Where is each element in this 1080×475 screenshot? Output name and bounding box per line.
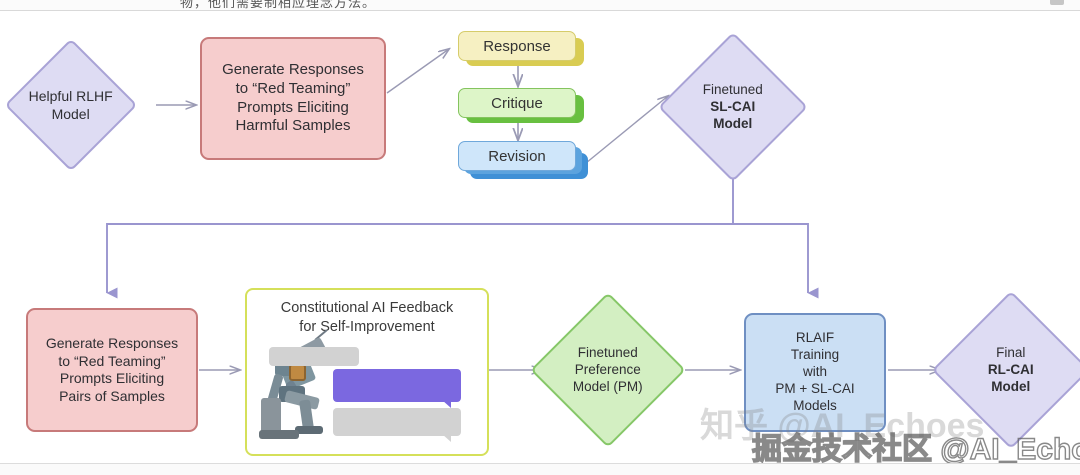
- cai-feedback-title: Constitutional AI Feedback for Self-Impr…: [247, 299, 487, 337]
- node-finetuned-sl-cai-model[interactable]: Finetuned SL-CAI Model: [658, 32, 808, 182]
- edge-genharmful-to-response: [387, 49, 449, 93]
- node-generate-harmful-samples[interactable]: Generate Responses to “Red Teaming” Prom…: [200, 37, 386, 160]
- label-line: RLAIF: [796, 330, 834, 345]
- node-response[interactable]: Response: [458, 31, 584, 67]
- node-response-label: Response: [483, 38, 551, 55]
- cai-bar-gray-bottom: [333, 408, 461, 436]
- node-helpful-rlhf-model[interactable]: Helpful RLHF Model: [5, 39, 138, 172]
- label-line: Pairs of Samples: [59, 388, 165, 404]
- diagram-canvas: 物，他们需要制相应理念方法。: [0, 0, 1080, 475]
- label-line: Prompts Eliciting: [237, 99, 349, 116]
- label-line: to “Red Teaming”: [236, 80, 351, 97]
- critique-body: Critique: [458, 88, 576, 118]
- cropped-top-glyph: [1050, 0, 1064, 5]
- node-finetuned-sl-cai-model-label: Finetuned SL-CAI Model: [682, 82, 784, 133]
- label-line: Generate Responses: [222, 61, 364, 78]
- label-line: Preference: [575, 362, 641, 377]
- label-line: PM + SL-CAI: [775, 381, 854, 396]
- cropped-bottom-strip: [0, 464, 1080, 475]
- edge-slcai-to-genpairs: [107, 167, 733, 293]
- cai-bar-gray-top: [269, 347, 359, 366]
- label-line: SL-CAI: [711, 99, 756, 114]
- label-line: to “Red Teaming”: [58, 353, 165, 369]
- node-critique-label: Critique: [491, 95, 543, 112]
- label-line: Harmful Samples: [235, 117, 350, 134]
- node-revision-label: Revision: [488, 148, 546, 165]
- node-final-rl-cai-model-label: Final RL-CAI Model: [957, 345, 1065, 396]
- node-generate-pairs-samples-label: Generate Responses to “Red Teaming” Prom…: [46, 335, 178, 405]
- cai-bar-purple-tail: [442, 400, 451, 408]
- cai-bar-gray-bottom-tail: [442, 434, 451, 442]
- node-revision[interactable]: Revision: [458, 141, 588, 181]
- node-cai-feedback-panel[interactable]: Constitutional AI Feedback for Self-Impr…: [245, 288, 489, 456]
- edge-revision-to-slcai: [586, 96, 668, 163]
- node-generate-pairs-samples[interactable]: Generate Responses to “Red Teaming” Prom…: [26, 308, 198, 432]
- label-line: Model: [714, 115, 753, 130]
- edge-slcai-to-rlaif: [733, 224, 808, 293]
- label-line: Model: [992, 378, 1031, 393]
- label-line: Generate Responses: [46, 335, 178, 351]
- node-finetuned-preference-model-label: Finetuned Preference Model (PM): [555, 345, 661, 396]
- label-line: Models: [793, 398, 837, 413]
- cropped-top-strip: 物，他们需要制相应理念方法。: [0, 0, 1080, 11]
- label-line: Model: [52, 105, 90, 121]
- node-helpful-rlhf-model-label: Helpful RLHF Model: [26, 88, 116, 123]
- node-critique[interactable]: Critique: [458, 88, 584, 124]
- label-line: RL-CAI: [988, 362, 1034, 377]
- node-finetuned-preference-model[interactable]: Finetuned Preference Model (PM): [530, 292, 686, 448]
- label-line: Finetuned: [703, 82, 763, 97]
- node-rlaif-training[interactable]: RLAIF Training with PM + SL-CAI Models: [744, 313, 886, 432]
- label-line: Training: [791, 347, 839, 362]
- label-line: Model (PM): [573, 378, 643, 393]
- label-line: Constitutional AI Feedback: [281, 300, 454, 316]
- cai-bar-purple: [333, 369, 461, 402]
- label-line: Final: [996, 345, 1025, 360]
- revision-body: Revision: [458, 141, 576, 171]
- label-line: Finetuned: [578, 345, 638, 360]
- label-line: Prompts Eliciting: [60, 370, 164, 386]
- response-body: Response: [458, 31, 576, 61]
- label-line: with: [803, 364, 827, 379]
- label-line: Helpful RLHF: [29, 88, 113, 104]
- node-generate-harmful-samples-label: Generate Responses to “Red Teaming” Prom…: [222, 61, 364, 136]
- node-final-rl-cai-model[interactable]: Final RL-CAI Model: [932, 291, 1080, 449]
- label-line: for Self-Improvement: [299, 319, 434, 335]
- node-rlaif-training-label: RLAIF Training with PM + SL-CAI Models: [775, 330, 854, 414]
- top-divider: [0, 10, 1080, 11]
